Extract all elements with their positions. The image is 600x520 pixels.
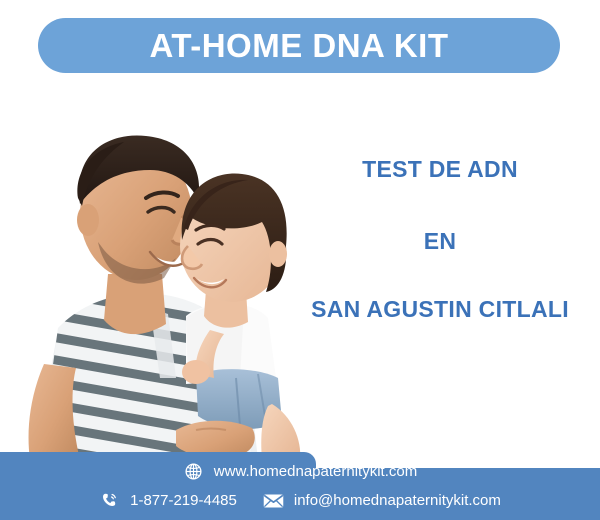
footer-contact-rows: www.homednapaternitykit.com 1-877-219-44… [0,452,600,520]
phone-text: 1-877-219-4485 [130,493,237,508]
envelope-icon [263,490,284,511]
globe-icon [183,461,204,482]
footer-row-website: www.homednapaternitykit.com [183,459,417,485]
website-contact[interactable]: www.homednapaternitykit.com [183,461,417,482]
father-and-child-photo [0,78,330,460]
headline-block: TEST DE ADN EN SAN AGUSTIN CITLALI [290,158,590,321]
header-title: AT-HOME DNA KIT [150,29,449,62]
phone-contact[interactable]: 1-877-219-4485 [99,490,237,511]
footer-row-phone-email: 1-877-219-4485 info@homednapaternitykit.… [99,488,501,514]
header-pill: AT-HOME DNA KIT [38,18,560,73]
footer-contact-bar: www.homednapaternitykit.com 1-877-219-44… [0,452,600,520]
phone-icon [99,490,120,511]
headline-line-1: TEST DE ADN [290,158,590,181]
headline-line-2: EN [290,230,590,253]
email-text: info@homednapaternitykit.com [294,493,501,508]
website-text: www.homednapaternitykit.com [214,464,417,479]
dna-test-promo-banner: AT-HOME DNA KIT [0,0,600,520]
headline-line-3: SAN AGUSTIN CITLALI [290,298,590,321]
email-contact[interactable]: info@homednapaternitykit.com [263,490,501,511]
